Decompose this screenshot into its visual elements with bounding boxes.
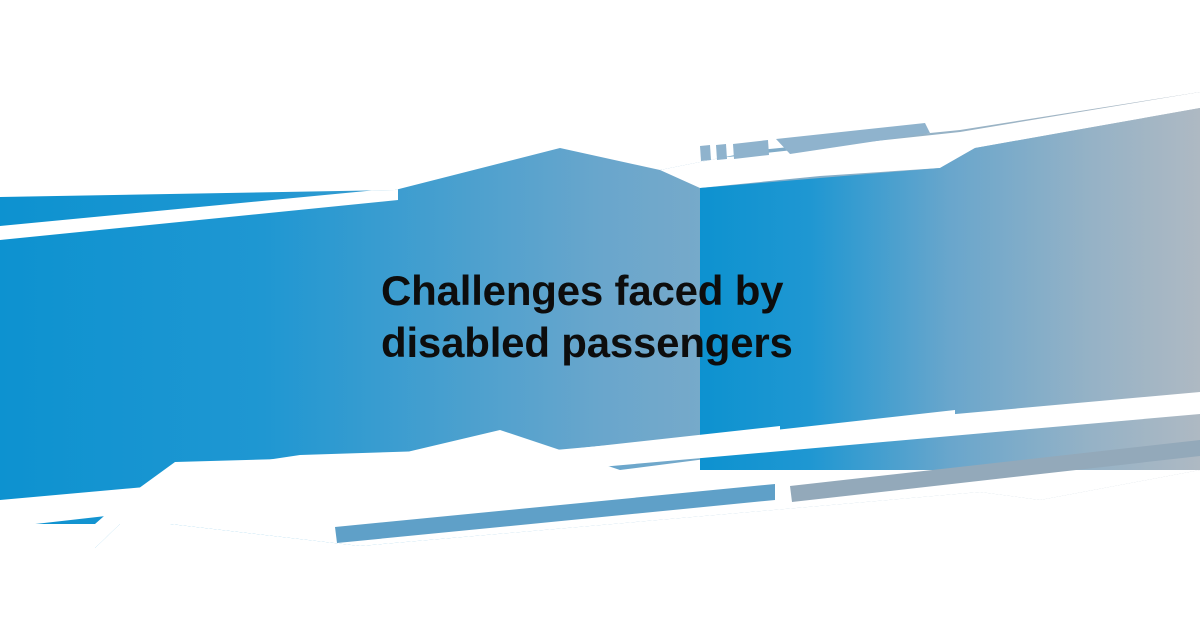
page-title-line-2: disabled passengers <box>381 317 851 369</box>
page-title-line-1: Challenges faced by <box>381 265 851 317</box>
dash-small-2-icon <box>716 144 727 160</box>
page-title: Challenges faced by disabled passengers <box>381 265 851 369</box>
banner-card: Challenges faced by disabled passengers <box>0 0 1200 630</box>
dash-small-1-icon <box>700 145 711 161</box>
